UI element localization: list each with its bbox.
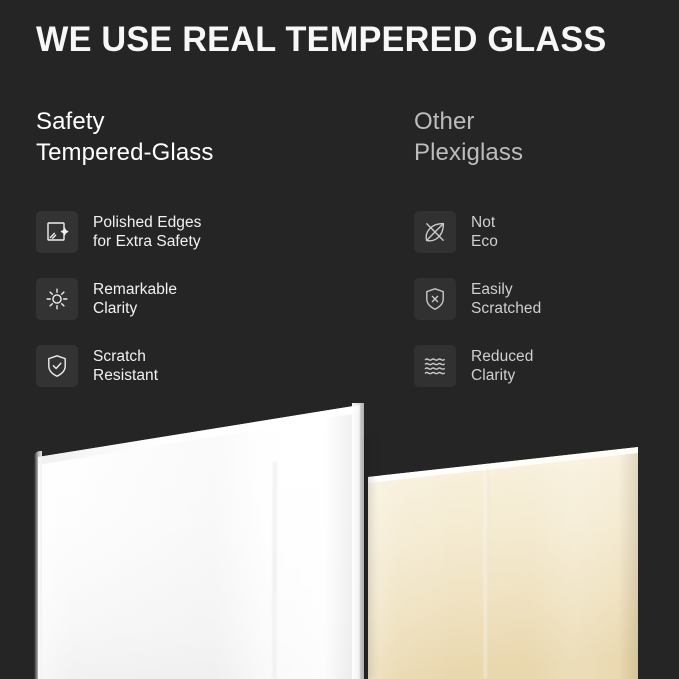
shield-x-icon	[414, 278, 456, 320]
feature-label: Polished Edges for Extra Safety	[93, 213, 201, 251]
column-title-right: Other Plexiglass	[414, 106, 676, 168]
leaf-slash-not-eco-icon	[414, 211, 456, 253]
feature-label: Remarkable Clarity	[93, 280, 177, 318]
polished-edge-sparkle-icon	[36, 211, 78, 253]
feature-item: Reduced Clarity	[414, 345, 676, 387]
feature-item: Easily Scratched	[414, 278, 676, 320]
plexiglass-panel-reflection	[483, 465, 488, 679]
tempered-glass-panel	[34, 401, 364, 679]
feature-item: Scratch Resistant	[36, 345, 386, 387]
column-other-plexiglass: Other Plexiglass Not Eco	[414, 106, 676, 168]
feature-list-right: Not Eco Easily Scratched	[414, 211, 676, 412]
feature-item: Remarkable Clarity	[36, 278, 386, 320]
feature-item: Not Eco	[414, 211, 676, 253]
feature-item: Polished Edges for Extra Safety	[36, 211, 386, 253]
feature-label: Not Eco	[471, 213, 498, 251]
column-title-left: Safety Tempered-Glass	[36, 106, 386, 168]
tempered-glass-left-edge	[34, 451, 42, 679]
product-panel-group	[0, 395, 679, 679]
tempered-glass-reflection	[273, 461, 279, 679]
feature-label: Easily Scratched	[471, 280, 541, 318]
column-safety-tempered-glass: Safety Tempered-Glass Polished Edges for…	[36, 106, 386, 168]
feature-list-left: Polished Edges for Extra Safety Remarkab…	[36, 211, 386, 412]
feature-label: Scratch Resistant	[93, 347, 158, 385]
comparison-infographic: WE USE REAL TEMPERED GLASS Safety Temper…	[0, 0, 679, 679]
wavy-lines-blur-icon	[414, 345, 456, 387]
brightness-sun-icon	[36, 278, 78, 320]
shield-check-icon	[36, 345, 78, 387]
tempered-glass-right-edge	[352, 403, 364, 679]
page-title: WE USE REAL TEMPERED GLASS	[36, 20, 644, 60]
feature-label: Reduced Clarity	[471, 347, 533, 385]
